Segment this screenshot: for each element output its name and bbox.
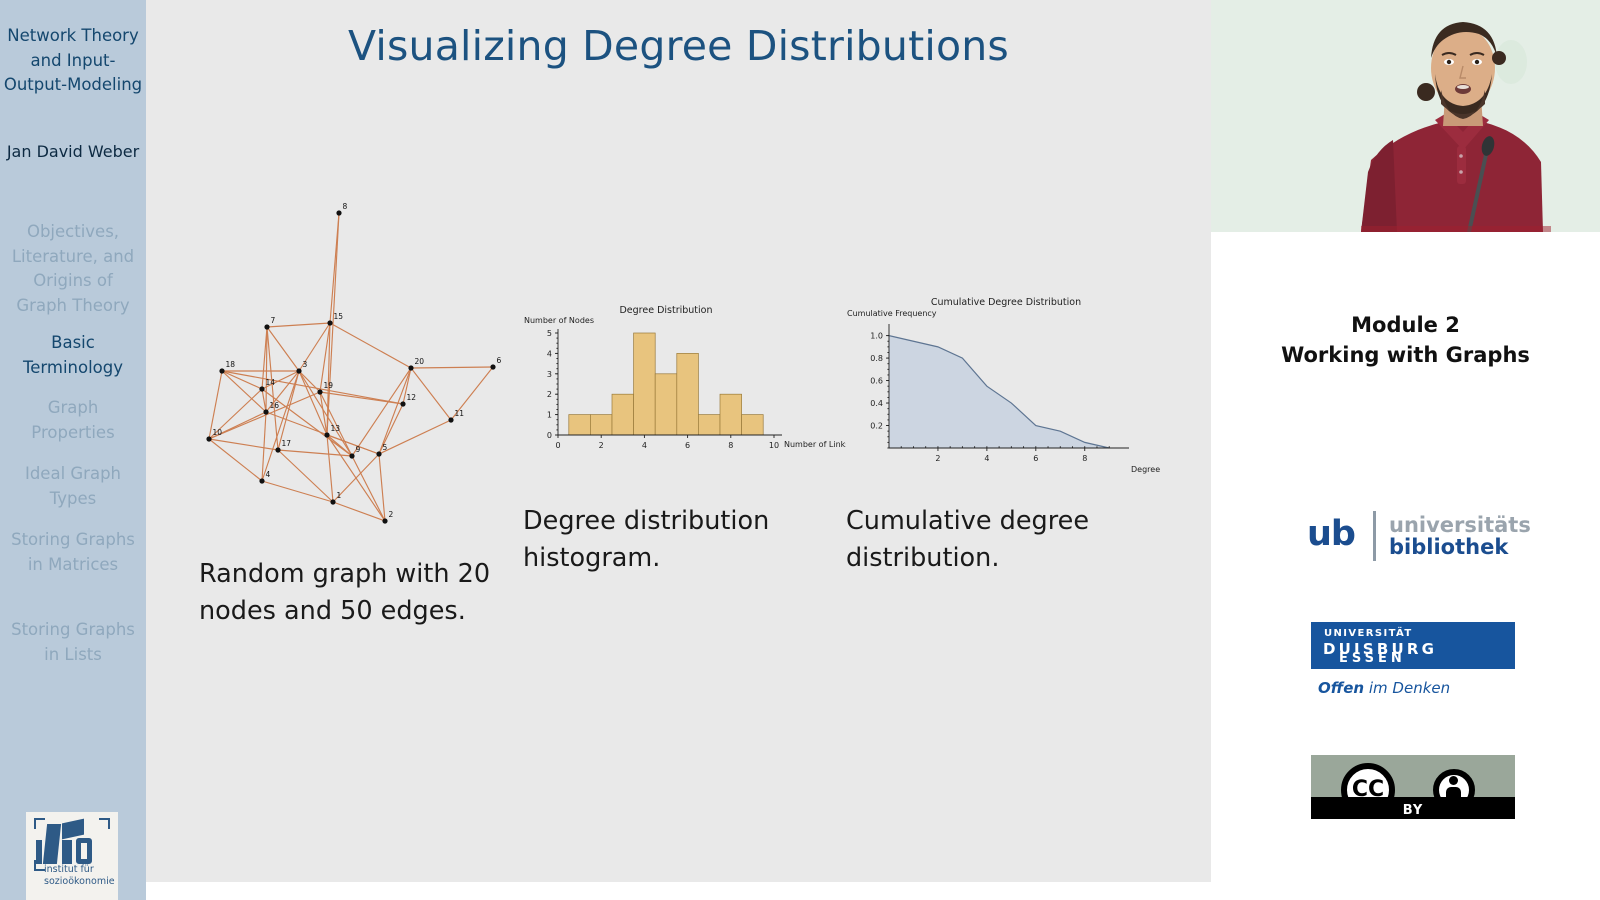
presentation-sidebar: Network Theory and Input-Output-Modeling…: [0, 0, 146, 900]
graph-node: [408, 365, 413, 370]
graph-edge: [327, 435, 333, 502]
graph-node: [324, 432, 329, 437]
graph-node-label: 12: [407, 393, 417, 402]
ifso-logo-text: institut für sozioökonomie: [44, 864, 118, 887]
ub-library-logo: ub universitäts bibliothek: [1307, 509, 1522, 564]
y-tick-label: 3: [547, 370, 552, 379]
graph-node-label: 20: [415, 357, 425, 366]
graph-node-label: 10: [213, 428, 223, 437]
graph-node-label: 7: [271, 316, 276, 325]
ifso-mark-icon: [32, 816, 112, 862]
graph-node-label: 15: [334, 312, 344, 321]
x-axis-label: Degree: [1131, 465, 1160, 474]
y-tick-label: 1.0: [870, 332, 883, 341]
x-tick-label: 6: [1033, 454, 1038, 463]
logo-divider: [1373, 511, 1376, 561]
sidebar-item-objectives[interactable]: Objectives, Literature, and Origins of G…: [0, 220, 146, 318]
sidebar-item-label: Objectives, Literature, and Origins of G…: [12, 222, 134, 315]
x-axis-label: Number of Links: [784, 440, 846, 449]
ub-word-1: universitäts: [1389, 513, 1531, 537]
sidebar-item-label: Graph Properties: [31, 398, 114, 442]
graph-node: [296, 368, 301, 373]
x-tick-label: 4: [984, 454, 989, 463]
speaker-video[interactable]: [1211, 0, 1600, 232]
module-heading: Module 2 Working with Graphs: [1211, 310, 1600, 370]
graph-node: [327, 320, 332, 325]
sidebar-item-label: Basic Terminology: [23, 333, 123, 377]
x-tick-label: 2: [599, 441, 604, 450]
graph-node: [206, 436, 211, 441]
graph-node: [263, 409, 268, 414]
graph-node: [349, 453, 354, 458]
graph-node: [264, 324, 269, 329]
person-head-icon: [1449, 776, 1458, 785]
graph-node: [259, 386, 264, 391]
y-tick-label: 0.6: [870, 377, 883, 386]
sidebar-item-basic-terminology[interactable]: Basic Terminology: [0, 331, 146, 380]
ub-word-2: bibliothek: [1389, 535, 1508, 559]
sidebar-item-storing-graphs-matrices[interactable]: Storing Graphs in Matrices: [0, 528, 146, 577]
histogram-bar: [720, 394, 742, 435]
graph-node-label: 2: [389, 510, 394, 519]
y-tick-label: 4: [547, 349, 552, 358]
slide-bottom-margin: [146, 882, 1211, 900]
graph-edge: [209, 439, 262, 481]
cc-by-license-badge: CC BY: [1311, 755, 1515, 819]
graph-node: [448, 417, 453, 422]
module-line-2: Working with Graphs: [1211, 340, 1600, 370]
graph-edge: [222, 371, 262, 389]
slide-canvas: Visualizing Degree Distributions 1234567…: [146, 0, 1211, 882]
caption-random-graph: Random graph with 20 nodes and 50 edges.: [199, 556, 499, 630]
histogram-bar: [634, 333, 656, 435]
ude-slogan-rest: im Denken: [1364, 679, 1450, 697]
graph-edge: [327, 435, 379, 454]
area-fill: [889, 336, 1109, 448]
ude-logo: UNIVERSITÄT DUISBURG ESSEN: [1311, 622, 1515, 669]
slide-title: Visualizing Degree Distributions: [146, 22, 1211, 70]
histogram-bar: [698, 415, 720, 435]
y-tick-label: 1: [547, 411, 552, 420]
graph-edge: [267, 323, 330, 327]
graph-node-label: 14: [266, 378, 276, 387]
graph-node: [275, 447, 280, 452]
degree-distribution-histogram: Degree Distribution Number of Nodes Numb…: [516, 295, 846, 485]
graph-edge: [267, 327, 299, 371]
graph-node-label: 18: [226, 360, 236, 369]
graph-node-label: 1: [337, 491, 342, 500]
sidebar-item-label: Storing Graphs in Lists: [11, 620, 135, 664]
graph-node-label: 9: [356, 445, 361, 454]
graph-edge: [330, 323, 411, 368]
graph-node-label: 11: [455, 409, 465, 418]
graph-edge: [267, 327, 278, 450]
deck-author: Jan David Weber: [0, 140, 146, 164]
sidebar-item-label: Ideal Graph Types: [25, 464, 121, 508]
sidebar-item-ideal-graph-types[interactable]: Ideal Graph Types: [0, 462, 146, 511]
ude-line-3: ESSEN: [1339, 651, 1406, 666]
x-tick-label: 4: [642, 441, 647, 450]
graph-node-label: 5: [383, 443, 388, 452]
slide-screen: Network Theory and Input-Output-Modeling…: [0, 0, 1600, 900]
y-tick-label: 0.4: [870, 399, 883, 408]
caption-histogram: Degree distribution histogram.: [523, 503, 803, 577]
cc-badge-label: BY: [1311, 803, 1515, 818]
y-tick-label: 0.2: [870, 422, 883, 431]
y-axis-label: Number of Nodes: [524, 316, 594, 325]
graph-node-label: 3: [303, 360, 308, 369]
x-tick-label: 8: [1082, 454, 1087, 463]
graph-edge: [411, 368, 451, 420]
graph-node: [400, 401, 405, 406]
y-tick-label: 5: [547, 329, 552, 338]
deck-title: Network Theory and Input-Output-Modeling: [0, 24, 146, 98]
graph-node-label: 13: [331, 424, 341, 433]
graph-node: [376, 451, 381, 456]
graph-node-label: 4: [266, 470, 271, 479]
sidebar-item-graph-properties[interactable]: Graph Properties: [0, 396, 146, 445]
module-line-1: Module 2: [1211, 310, 1600, 340]
caption-cumulative: Cumulative degree distribution.: [846, 503, 1126, 577]
x-tick-label: 0: [555, 441, 560, 450]
y-tick-label: 0.8: [870, 354, 883, 363]
y-tick-label: 0: [547, 431, 552, 440]
ude-slogan-bold: Offen: [1318, 679, 1364, 697]
y-axis-label: Cumulative Frequency: [847, 309, 937, 318]
graph-node: [382, 518, 387, 523]
ude-line-1: UNIVERSITÄT: [1324, 628, 1413, 639]
graph-node: [317, 389, 322, 394]
histogram-bar: [569, 415, 591, 435]
ude-slogan: Offen im Denken: [1318, 679, 1450, 697]
cumulative-degree-distribution-chart: Cumulative Degree Distribution Cumulativ…: [841, 288, 1171, 483]
sidebar-item-storing-graphs-lists[interactable]: Storing Graphs in Lists: [0, 618, 146, 667]
ub-mark: ub: [1307, 517, 1355, 552]
histogram-bar: [677, 353, 699, 435]
y-tick-label: 2: [547, 390, 552, 399]
graph-edge: [278, 450, 352, 456]
graph-node-label: 19: [324, 381, 334, 390]
graph-edge: [222, 371, 403, 404]
graph-node: [490, 364, 495, 369]
graph-edge: [411, 367, 493, 368]
histogram-bar: [742, 415, 764, 435]
graph-node: [330, 499, 335, 504]
sidebar-item-label: Storing Graphs in Matrices: [11, 530, 135, 574]
graph-node: [336, 210, 341, 215]
chart-title: Cumulative Degree Distribution: [931, 297, 1081, 308]
histogram-bar: [655, 374, 677, 435]
x-tick-label: 10: [769, 441, 779, 450]
graph-node: [259, 478, 264, 483]
graph-node-label: 6: [497, 356, 502, 365]
graph-node-label: 17: [282, 439, 292, 448]
histogram-bar: [590, 415, 612, 435]
x-tick-label: 6: [685, 441, 690, 450]
graph-edge: [209, 439, 278, 450]
x-tick-label: 2: [935, 454, 940, 463]
x-tick-label: 8: [728, 441, 733, 450]
graph-node: [219, 368, 224, 373]
ifso-logo: institut für sozioökonomie: [26, 812, 118, 900]
chart-title: Degree Distribution: [619, 305, 712, 316]
graph-node-label: 8: [343, 202, 348, 211]
graph-node-label: 16: [270, 401, 280, 410]
histogram-bar: [612, 394, 634, 435]
